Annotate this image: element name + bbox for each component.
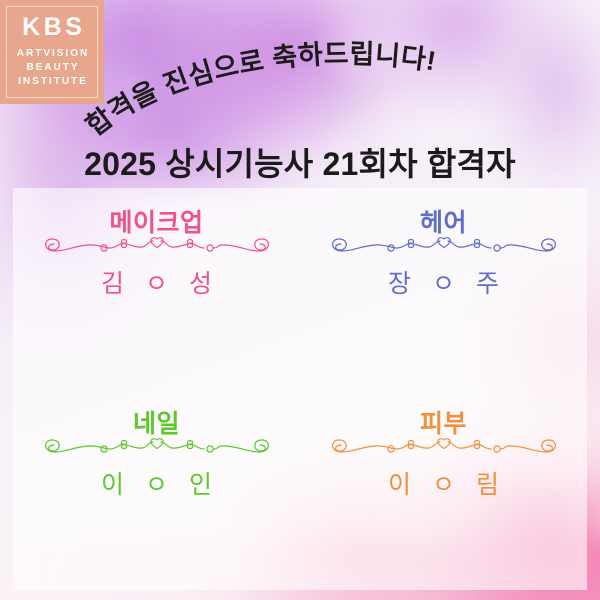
brand-logo: KBS ARTVISION BEAUTY INSTITUTE	[0, 0, 104, 104]
category-nail: 네일	[13, 389, 300, 590]
heart-flourish-divider-icon	[44, 230, 270, 256]
page-title: 2025 상시기능사 21회차 합격자	[0, 139, 600, 185]
heart-flourish-divider-icon	[331, 230, 557, 256]
winner-name: 김 ㅇ 성	[94, 264, 219, 300]
category-skin: 피부	[300, 389, 587, 590]
poster-canvas: KBS ARTVISION BEAUTY INSTITUTE 합격을 진심으로 …	[0, 0, 600, 600]
category-hair: 헤어	[300, 188, 587, 389]
category-makeup: 메이크업	[13, 188, 300, 389]
winner-name: 이 ㅇ 림	[381, 465, 506, 501]
winners-grid: 메이크업	[13, 188, 587, 590]
heart-flourish-divider-icon	[331, 431, 557, 457]
arched-headline: 합격을 진심으로 축하드립니다!	[86, 44, 536, 154]
logo-brand-text: KBS	[19, 15, 86, 40]
logo-line-beauty: BEAUTY	[24, 61, 79, 75]
arched-headline-text: 합격을 진심으로 축하드립니다!	[80, 39, 438, 142]
logo-line-artvision: ARTVISION	[15, 47, 89, 61]
winner-name: 장 ㅇ 주	[381, 264, 506, 300]
heart-flourish-divider-icon	[44, 431, 270, 457]
logo-line-institute: INSTITUTE	[16, 75, 88, 89]
winner-name: 이 ㅇ 인	[94, 465, 219, 501]
